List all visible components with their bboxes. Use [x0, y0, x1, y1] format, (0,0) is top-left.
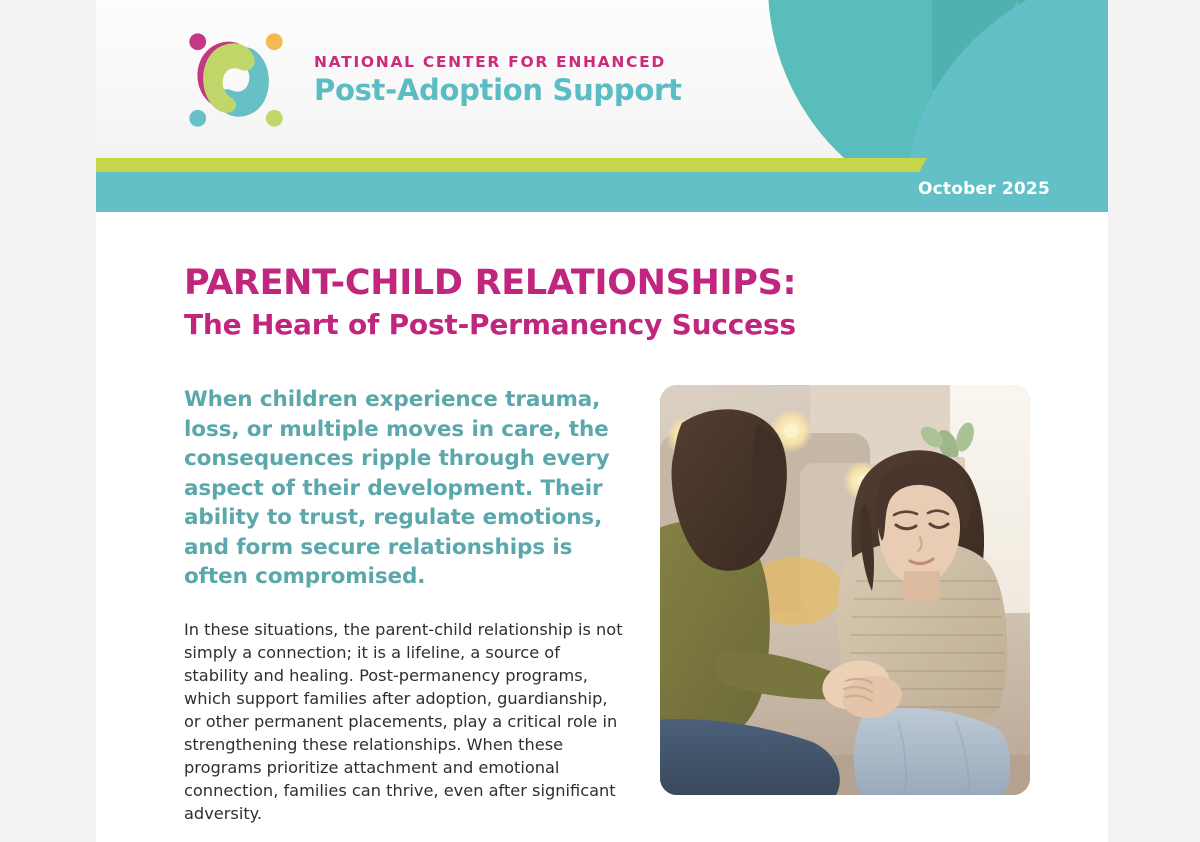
- organization-logo[interactable]: NATIONAL CENTER FOR ENHANCED Post-Adopti…: [180, 24, 682, 136]
- article-title-main: PARENT-CHILD RELATIONSHIPS:: [184, 264, 1048, 303]
- issue-date: October 2025: [918, 179, 1050, 199]
- article-columns: When children experience trauma, loss, o…: [184, 385, 1048, 824]
- article-text-column: When children experience trauma, loss, o…: [184, 385, 626, 824]
- article-lead-paragraph: When children experience trauma, loss, o…: [184, 385, 626, 591]
- photo-illustration: [660, 385, 1030, 795]
- logo-line-2: Post-Adoption Support: [314, 76, 682, 105]
- article-title-sub: The Heart of Post-Permanency Success: [184, 309, 1048, 341]
- four-people-circle-logo-icon: [180, 24, 292, 136]
- article-content: PARENT-CHILD RELATIONSHIPS: The Heart of…: [96, 212, 1108, 825]
- logo-line-1: NATIONAL CENTER FOR ENHANCED: [314, 55, 682, 71]
- newsletter-page: October 2025 NATIONAL C: [96, 0, 1108, 842]
- page-header: October 2025 NATIONAL C: [96, 0, 1108, 212]
- parent-and-teen-holding-hands-photo: [660, 385, 1030, 795]
- article-body-paragraph: In these situations, the parent-child re…: [184, 618, 626, 825]
- header-lime-stripe: [96, 158, 926, 172]
- logo-wordmark: NATIONAL CENTER FOR ENHANCED Post-Adopti…: [314, 55, 682, 105]
